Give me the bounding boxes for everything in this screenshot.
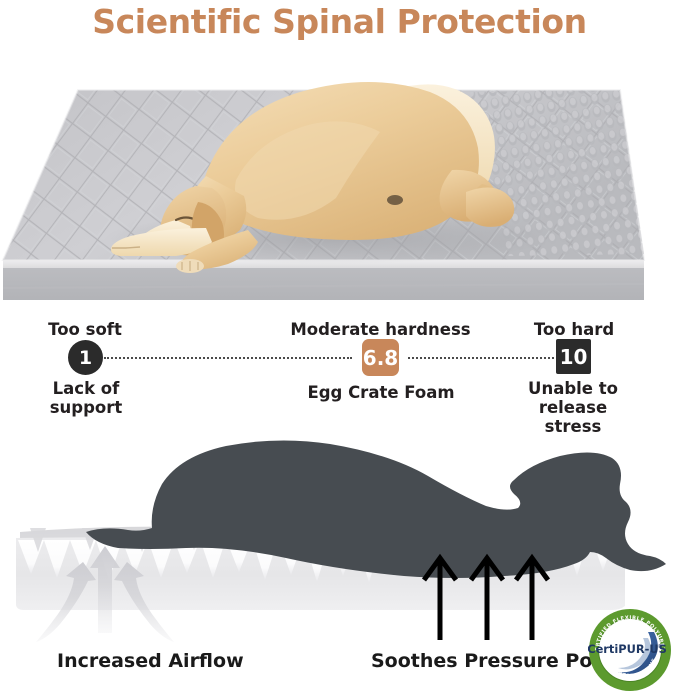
scale-low-top-label: Too soft: [25, 320, 145, 339]
certipur-us-logo: CONTAINS CERTIFIED FLEXIBLE POLYURETHANE…: [588, 608, 672, 692]
airflow-label: Increased Airflow: [57, 650, 244, 672]
scale-high-bottom-label-line1: Unable to: [508, 379, 638, 398]
scale-mid-top-label: Moderate hardness: [288, 320, 473, 339]
certipur-brand-text: CertiPUR-US: [588, 642, 667, 656]
scale-high-top-label: Too hard: [515, 320, 633, 339]
scale-connector-left: [104, 357, 352, 359]
scale-low-bottom-label: Lack of support: [14, 379, 158, 417]
page-title: Scientific Spinal Protection: [0, 2, 679, 41]
certipur-registered-mark: ®: [658, 643, 663, 650]
scale-low-badge: 1: [68, 340, 103, 375]
foam-cross-section-diagram: [0, 428, 679, 653]
scale-high-badge: 10: [556, 339, 591, 374]
scale-connector-right: [408, 357, 558, 359]
scale-mid-bottom-label: Egg Crate Foam: [298, 383, 464, 402]
product-photo: [0, 52, 679, 300]
scale-mid-badge: 6.8: [362, 339, 399, 376]
